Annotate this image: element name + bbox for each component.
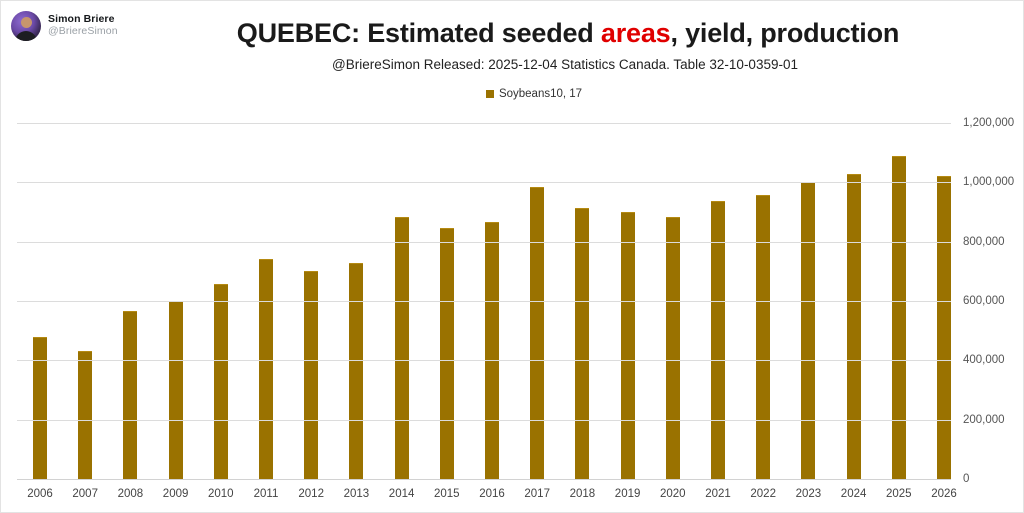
gridline [17, 360, 951, 361]
bar[interactable] [801, 182, 815, 479]
bar[interactable] [485, 222, 499, 480]
bar[interactable] [395, 217, 409, 479]
title-part-1: QUEBEC: Estimated seeded [237, 18, 601, 48]
y-axis-tick-label: 200,000 [963, 414, 1005, 426]
y-axis-tick-label: 800,000 [963, 236, 1005, 248]
gridline [17, 123, 951, 124]
bar[interactable] [440, 228, 454, 479]
legend-swatch-icon [486, 90, 494, 98]
x-axis-tick-label: 2024 [841, 488, 867, 500]
bar[interactable] [756, 195, 770, 480]
x-axis-tick-label: 2008 [118, 488, 144, 500]
x-axis-tick-label: 2014 [389, 488, 415, 500]
x-axis-tick-label: 2016 [479, 488, 505, 500]
x-axis-tick-label: 2020 [660, 488, 686, 500]
bar[interactable] [78, 351, 92, 479]
gridline [17, 182, 951, 183]
bar[interactable] [621, 212, 635, 479]
legend-item-soybeans[interactable]: Soybeans10, 17 [486, 88, 582, 100]
chart-plot-area [17, 123, 951, 479]
x-axis-tick-label: 2007 [72, 488, 98, 500]
x-axis-tick-label: 2023 [796, 488, 822, 500]
x-axis-tick-label: 2025 [886, 488, 912, 500]
x-axis-tick-label: 2010 [208, 488, 234, 500]
x-axis-tick-label: 2006 [27, 488, 53, 500]
x-axis-tick-label: 2011 [254, 488, 279, 500]
y-axis-tick-label: 1,000,000 [963, 176, 1014, 188]
y-axis-tick-label: 600,000 [963, 295, 1005, 307]
x-axis-tick-label: 2009 [163, 488, 189, 500]
bar[interactable] [892, 156, 906, 479]
x-axis-tick-label: 2017 [524, 488, 550, 500]
x-axis-tick-label: 2012 [298, 488, 324, 500]
x-axis-tick-label: 2019 [615, 488, 641, 500]
bar[interactable] [33, 337, 47, 479]
page-title: QUEBEC: Estimated seeded areas, yield, p… [1, 18, 1023, 49]
x-axis-tick-label: 2021 [705, 488, 731, 500]
bar[interactable] [575, 208, 589, 479]
y-axis-tick-label: 400,000 [963, 354, 1005, 366]
bar[interactable] [530, 187, 544, 479]
bar[interactable] [349, 263, 363, 479]
gridline [17, 479, 951, 480]
x-axis-tick-label: 2018 [570, 488, 596, 500]
bar[interactable] [169, 301, 183, 479]
gridline [17, 420, 951, 421]
x-axis-tick-label: 2013 [344, 488, 370, 500]
title-highlight: areas [601, 18, 671, 48]
bar[interactable] [214, 284, 228, 479]
bar[interactable] [666, 217, 680, 479]
x-axis-tick-label: 2026 [931, 488, 957, 500]
legend-item-label: Soybeans10, 17 [499, 88, 582, 100]
title-part-2: , yield, production [670, 18, 899, 48]
bar[interactable] [847, 174, 861, 479]
y-axis-tick-label: 0 [963, 473, 969, 485]
bar[interactable] [711, 201, 725, 479]
y-axis-tick-label: 1,200,000 [963, 117, 1014, 129]
gridline [17, 242, 951, 243]
x-axis-tick-label: 2015 [434, 488, 460, 500]
gridline [17, 301, 951, 302]
chart-page: Simon Briere @BriereSimon QUEBEC: Estima… [0, 0, 1024, 513]
chart-legend: Soybeans10, 17 [1, 88, 1023, 100]
bar[interactable] [937, 176, 951, 479]
bar[interactable] [259, 259, 273, 479]
bar[interactable] [123, 311, 137, 479]
x-axis-tick-label: 2022 [750, 488, 776, 500]
chart-subtitle: @BriereSimon Released: 2025-12-04 Statis… [1, 57, 1023, 72]
